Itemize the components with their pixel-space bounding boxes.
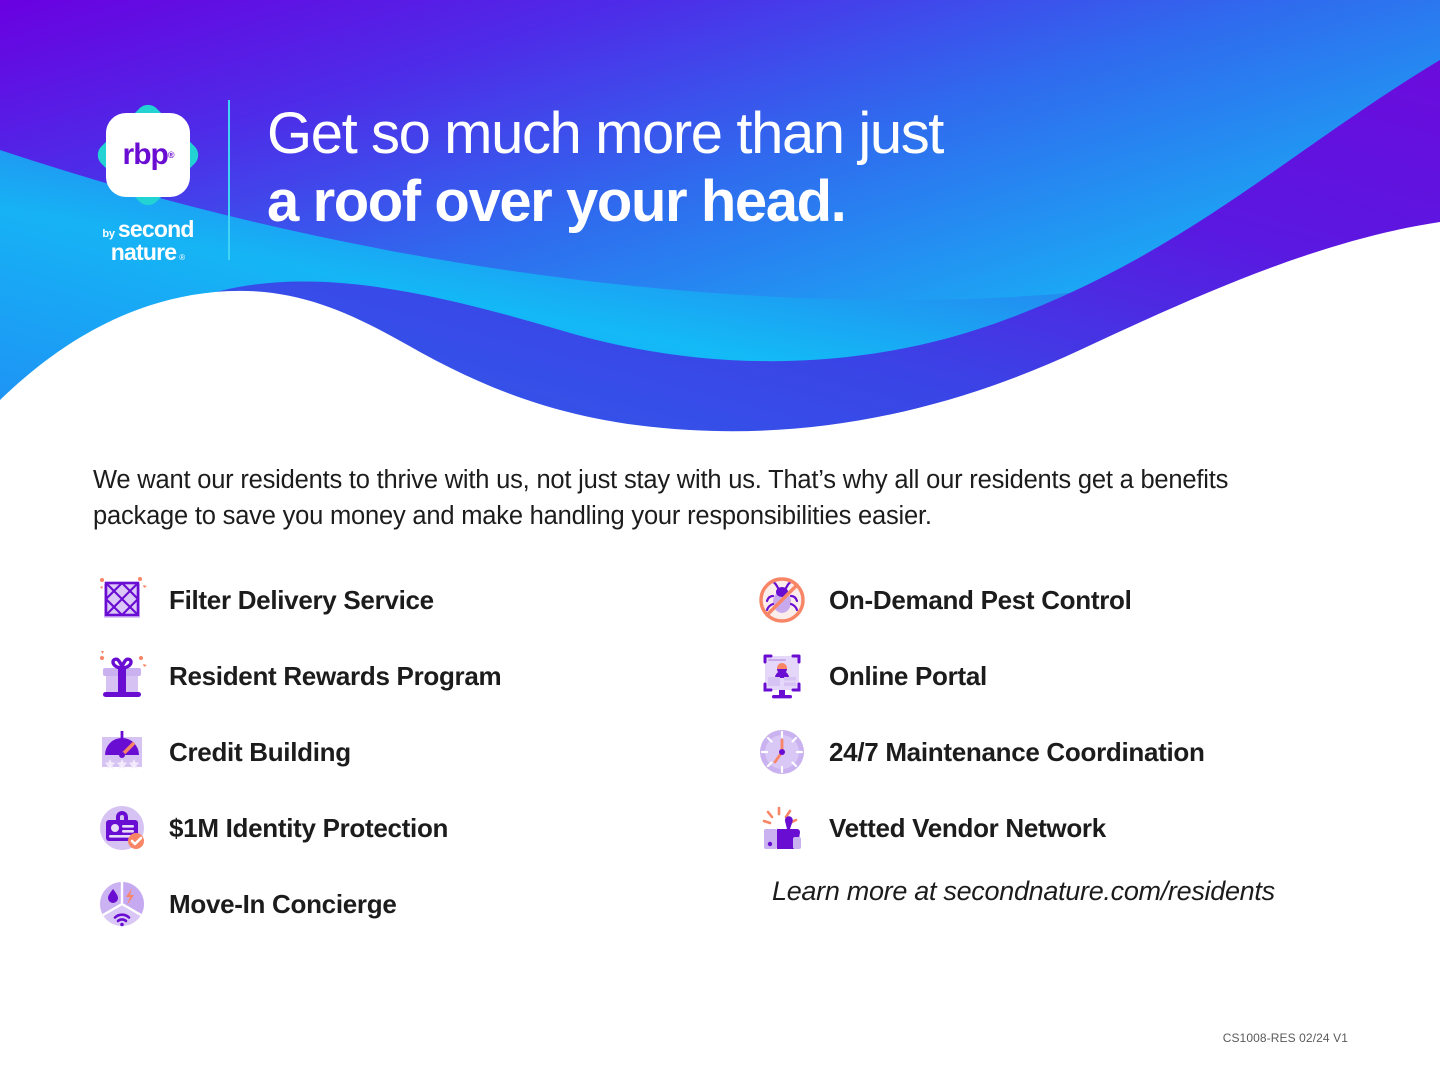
benefit-item-credit-building: Credit Building: [93, 714, 753, 790]
clock-icon: [753, 723, 811, 781]
benefit-label: $1M Identity Protection: [169, 813, 448, 844]
benefits-column-left: Filter Delivery Service Resident Rewards…: [93, 562, 753, 942]
benefit-item-online-portal: Online Portal: [753, 638, 1353, 714]
benefit-label: On-Demand Pest Control: [829, 585, 1132, 616]
benefit-item-identity-protection: $1M Identity Protection: [93, 790, 753, 866]
benefit-item-move-in-concierge: Move-In Concierge: [93, 866, 753, 942]
logo-wordmark: rbp®: [93, 100, 203, 210]
benefit-label: 24/7 Maintenance Coordination: [829, 737, 1205, 768]
headline-line-1: Get so much more than just: [267, 104, 1267, 164]
utilities-circle-icon: [93, 875, 151, 933]
logo-byline-registered-mark: ®: [179, 254, 185, 262]
rbp-logo-mark: rbp®: [93, 100, 203, 210]
benefit-label: Online Portal: [829, 661, 987, 692]
learn-more-text: Learn more at secondnature.com/residents: [772, 876, 1275, 907]
benefit-item-pest-control: On-Demand Pest Control: [753, 562, 1353, 638]
benefit-label: Credit Building: [169, 737, 351, 768]
logo-byline-second: second: [118, 218, 194, 241]
air-filter-icon: [93, 571, 151, 629]
id-badge-check-icon: [93, 799, 151, 857]
gift-box-icon: [93, 647, 151, 705]
page-title: Get so much more than just a roof over y…: [267, 104, 1267, 233]
benefit-label: Vetted Vendor Network: [829, 813, 1106, 844]
logo-byline-nature: nature: [111, 241, 177, 264]
benefit-item-vetted-vendor-network: Vetted Vendor Network: [753, 790, 1353, 866]
rbp-logo: rbp® by second nature®: [86, 100, 210, 260]
thumbs-up-icon: [753, 799, 811, 857]
benefit-label: Filter Delivery Service: [169, 585, 434, 616]
benefit-label: Move-In Concierge: [169, 889, 397, 920]
logo-byline: by second nature®: [90, 218, 206, 264]
logo-registered-mark: ®: [168, 150, 174, 160]
benefit-item-resident-rewards-program: Resident Rewards Program: [93, 638, 753, 714]
intro-paragraph: We want our residents to thrive with us,…: [93, 462, 1318, 534]
header-divider: [228, 100, 230, 260]
credit-gauge-icon: [93, 723, 151, 781]
hero-banner: rbp® by second nature® Get so much more …: [0, 0, 1440, 440]
benefit-item-filter-delivery-service: Filter Delivery Service: [93, 562, 753, 638]
document-code: CS1008-RES 02/24 V1: [1223, 1031, 1348, 1045]
no-bug-icon: [753, 571, 811, 629]
monitor-user-icon: [753, 647, 811, 705]
logo-wordmark-text: rbp: [123, 138, 168, 172]
benefit-item-maintenance-coordination: 24/7 Maintenance Coordination: [753, 714, 1353, 790]
headline-line-2: a roof over your head.: [267, 172, 1267, 232]
benefit-label: Resident Rewards Program: [169, 661, 501, 692]
